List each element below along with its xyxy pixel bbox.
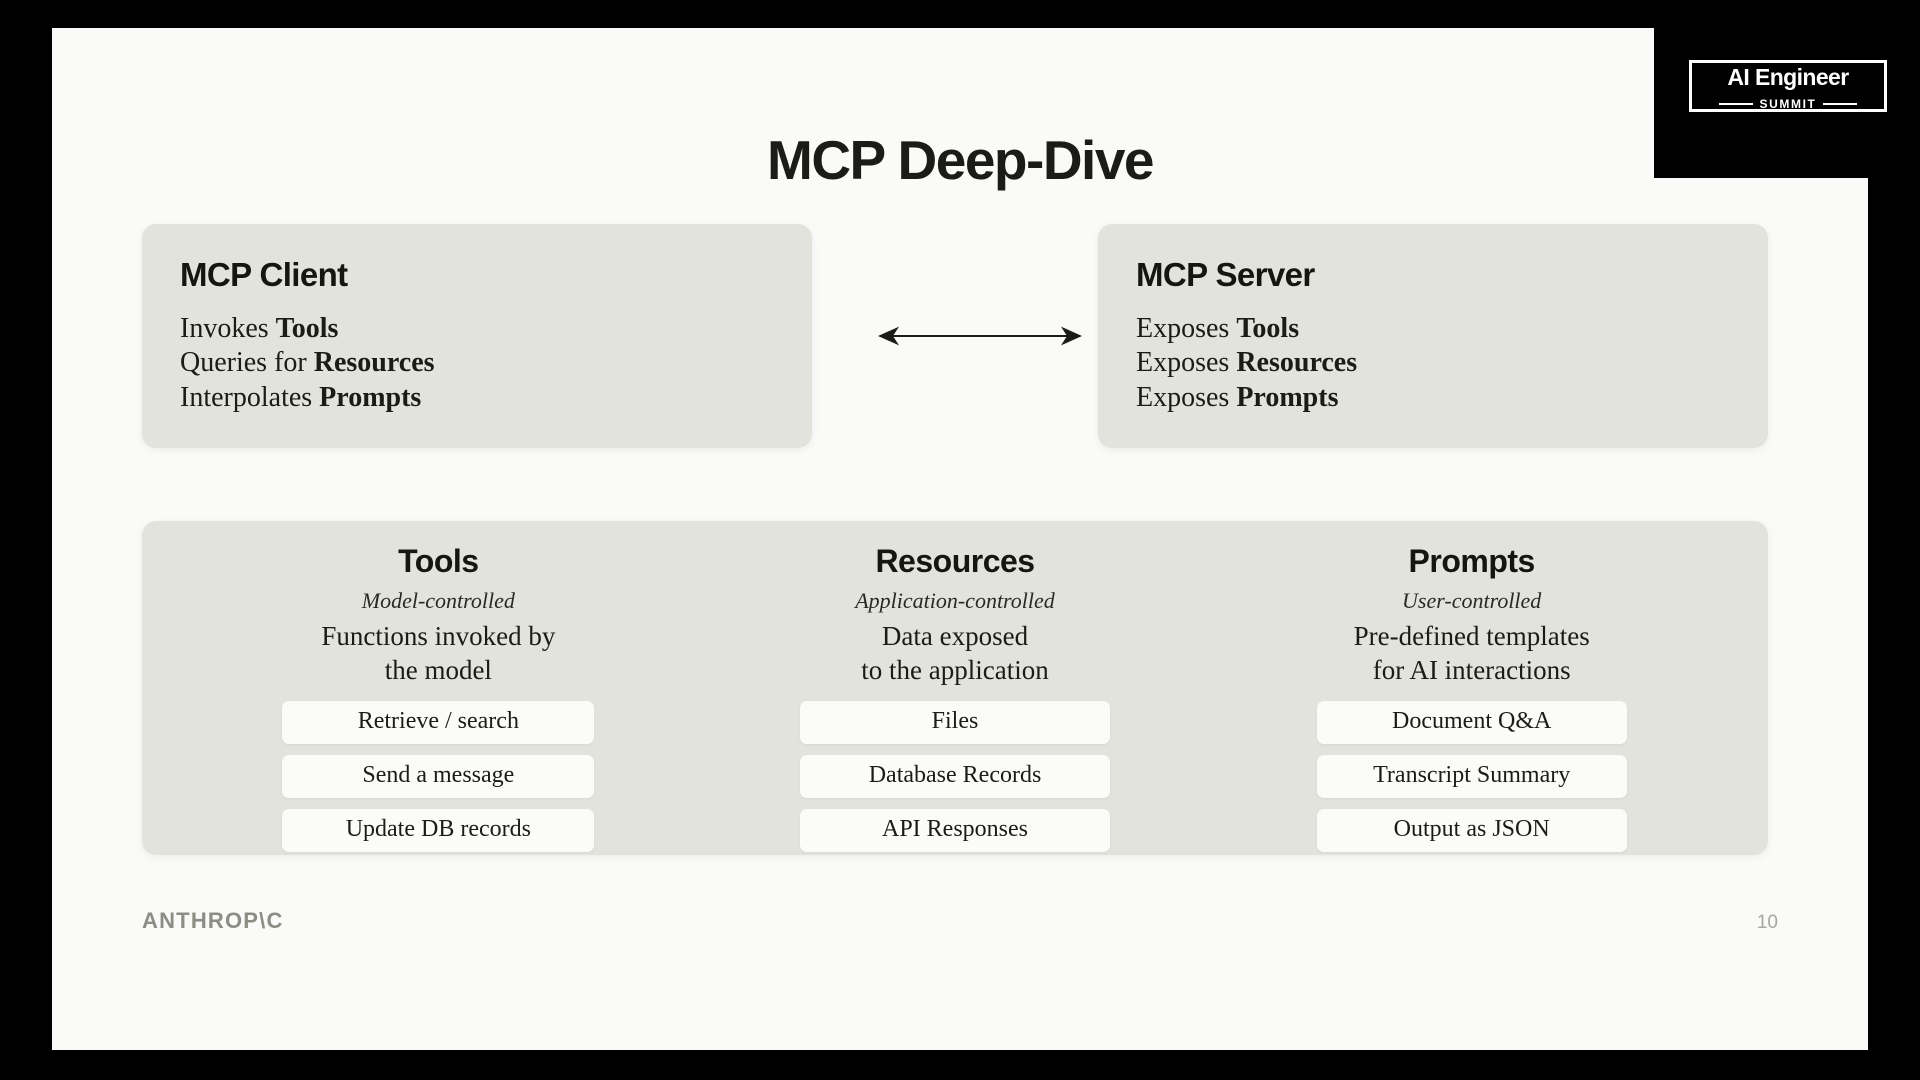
primitive-example-pill[interactable]: Files (800, 701, 1110, 744)
mcp-client-line-keyword: Tools (276, 313, 339, 344)
mcp-client-line-verb: Interpolates (180, 382, 319, 413)
primitive-example-pill[interactable]: Document Q&A (1317, 701, 1627, 744)
primitive-title: Resources (875, 543, 1034, 580)
screenshot-root: MCP Deep-Dive MCP Client Invokes Tools Q… (0, 0, 1920, 1080)
mcp-server-line-keyword: Prompts (1236, 382, 1338, 413)
mcp-server-line: Exposes Tools (1136, 312, 1730, 346)
logo-subtitle-row: SUMMIT (1689, 95, 1887, 113)
logo-title: AI Engineer (1689, 64, 1887, 91)
mcp-client-line: Interpolates Prompts (180, 381, 774, 415)
mcp-server-line-keyword: Resources (1236, 347, 1357, 378)
primitive-example-list: Document Q&A Transcript Summary Output a… (1213, 701, 1730, 852)
primitive-example-pill[interactable]: Retrieve / search (282, 701, 594, 744)
bidirectional-arrow-icon (870, 316, 1090, 356)
primitive-example-pill[interactable]: API Responses (800, 809, 1110, 852)
primitive-example-pill[interactable]: Update DB records (282, 809, 594, 852)
mcp-client-line: Invokes Tools (180, 312, 774, 346)
mcp-server-line-keyword: Tools (1236, 313, 1299, 344)
logo-subtitle: SUMMIT (1760, 97, 1817, 111)
primitive-description: Data exposedto the application (861, 619, 1048, 687)
mcp-client-line-verb: Invokes (180, 313, 276, 344)
mcp-client-card: MCP Client Invokes Tools Queries for Res… (142, 224, 812, 448)
mcp-client-line-keyword: Prompts (319, 382, 421, 413)
primitive-example-pill[interactable]: Send a message (282, 755, 594, 798)
mcp-primitives-panel: Tools Model-controlled Functions invoked… (142, 521, 1768, 855)
mcp-server-line: Exposes Resources (1136, 346, 1730, 380)
mcp-client-line-keyword: Resources (314, 347, 435, 378)
primitive-example-pill[interactable]: Transcript Summary (1317, 755, 1627, 798)
mcp-client-line-verb: Queries for (180, 347, 314, 378)
mcp-server-line-verb: Exposes (1136, 382, 1236, 413)
mcp-server-line: Exposes Prompts (1136, 381, 1730, 415)
mcp-client-title: MCP Client (180, 256, 774, 294)
anthropic-wordmark: ANTHROP\C (142, 908, 284, 934)
mcp-server-line-verb: Exposes (1136, 347, 1236, 378)
mcp-server-card: MCP Server Exposes Tools Exposes Resourc… (1098, 224, 1768, 448)
primitive-column-resources: Resources Application-controlled Data ex… (697, 543, 1214, 855)
mcp-client-line: Queries for Resources (180, 346, 774, 380)
primitive-control-label: User-controlled (1402, 588, 1541, 614)
primitive-description: Pre-defined templatesfor AI interactions (1354, 619, 1590, 687)
page-title: MCP Deep-Dive (52, 128, 1868, 192)
mcp-server-title: MCP Server (1136, 256, 1730, 294)
slide-page-number: 10 (1757, 912, 1778, 934)
primitive-column-prompts: Prompts User-controlled Pre-defined temp… (1213, 543, 1730, 855)
primitive-control-label: Application-controlled (855, 588, 1055, 614)
primitive-description: Functions invoked bythe model (321, 619, 555, 687)
primitive-example-list: Retrieve / search Send a message Update … (180, 701, 697, 852)
primitive-example-pill[interactable]: Database Records (800, 755, 1110, 798)
presentation-slide: MCP Deep-Dive MCP Client Invokes Tools Q… (52, 28, 1868, 1050)
mcp-server-line-verb: Exposes (1136, 313, 1236, 344)
logo-rule-right (1823, 103, 1857, 105)
primitive-title: Tools (398, 543, 478, 580)
primitive-column-tools: Tools Model-controlled Functions invoked… (180, 543, 697, 855)
logo-rule-left (1719, 103, 1753, 105)
primitive-example-pill[interactable]: Output as JSON (1317, 809, 1627, 852)
primitive-example-list: Files Database Records API Responses (697, 701, 1214, 852)
primitive-title: Prompts (1409, 543, 1535, 580)
primitive-control-label: Model-controlled (362, 588, 515, 614)
